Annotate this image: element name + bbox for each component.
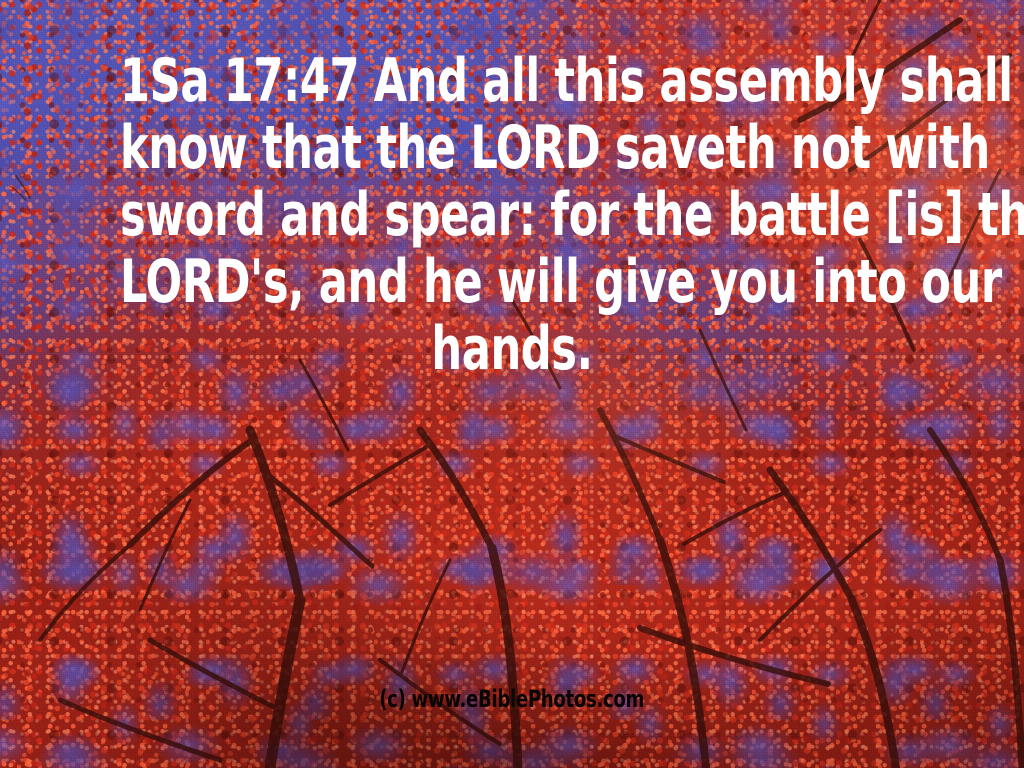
- watermark: (c) www.eBiblePhotos.com: [0, 686, 1024, 712]
- verse-line-1: 1Sa 17:47 And all this assembly shall: [120, 48, 904, 115]
- verse-line-4: LORD's, and he will give you into our: [120, 249, 904, 316]
- verse-line-3: sword and spear: for the battle [is] the: [120, 182, 904, 249]
- verse-line-2: know that the LORD saveth not with: [120, 115, 904, 182]
- scripture-image-canvas: 1Sa 17:47 And all this assembly shall kn…: [0, 0, 1024, 768]
- verse-line-5: hands.: [120, 316, 904, 383]
- watermark-text: (c) www.eBiblePhotos.com: [380, 686, 645, 712]
- verse-text-block: 1Sa 17:47 And all this assembly shall kn…: [0, 48, 1024, 383]
